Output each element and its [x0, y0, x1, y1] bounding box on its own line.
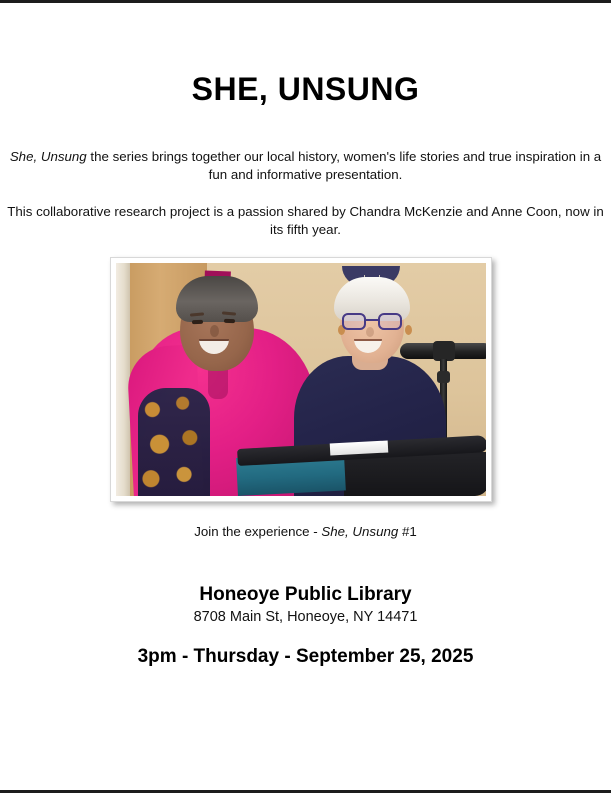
person-two-nose	[366, 327, 374, 337]
person-one-hair	[176, 276, 258, 322]
event-photo	[116, 263, 486, 496]
person-one-eye-right	[224, 319, 235, 324]
venue-name: Honeoye Public Library	[0, 584, 611, 606]
caption-prefix: Join the experience -	[194, 524, 321, 539]
intro-paragraph-rest: the series brings together our local his…	[87, 149, 601, 182]
description-paragraph: This collaborative research project is a…	[0, 203, 611, 239]
glasses-lens-right	[378, 313, 402, 330]
person-two-ear-right	[405, 325, 412, 335]
caption-series-title: She, Unsung	[321, 524, 398, 539]
person-one-nose	[210, 325, 219, 337]
intro-paragraph: She, Unsung the series brings together o…	[0, 148, 611, 184]
person-two-top-pattern	[138, 388, 210, 496]
glasses-lens-left	[342, 313, 366, 330]
event-datetime: 3pm - Thursday - September 25, 2025	[0, 646, 611, 668]
microphone-joint	[437, 371, 450, 383]
microphone-collar	[433, 341, 455, 361]
caption-suffix: #1	[398, 524, 417, 539]
event-photo-frame	[110, 257, 492, 502]
intro-series-title: She, Unsung	[10, 149, 87, 164]
glasses-bridge	[366, 319, 378, 321]
person-one-eye-left	[192, 320, 203, 325]
flyer-content: SHE, UNSUNG She, Unsung the series bring…	[0, 3, 611, 790]
page-title: SHE, UNSUNG	[0, 71, 611, 108]
flyer-page: SHE, UNSUNG She, Unsung the series bring…	[0, 0, 611, 793]
photo-caption: Join the experience - She, Unsung #1	[0, 524, 611, 539]
venue-address: 8708 Main St, Honeoye, NY 14471	[0, 609, 611, 625]
